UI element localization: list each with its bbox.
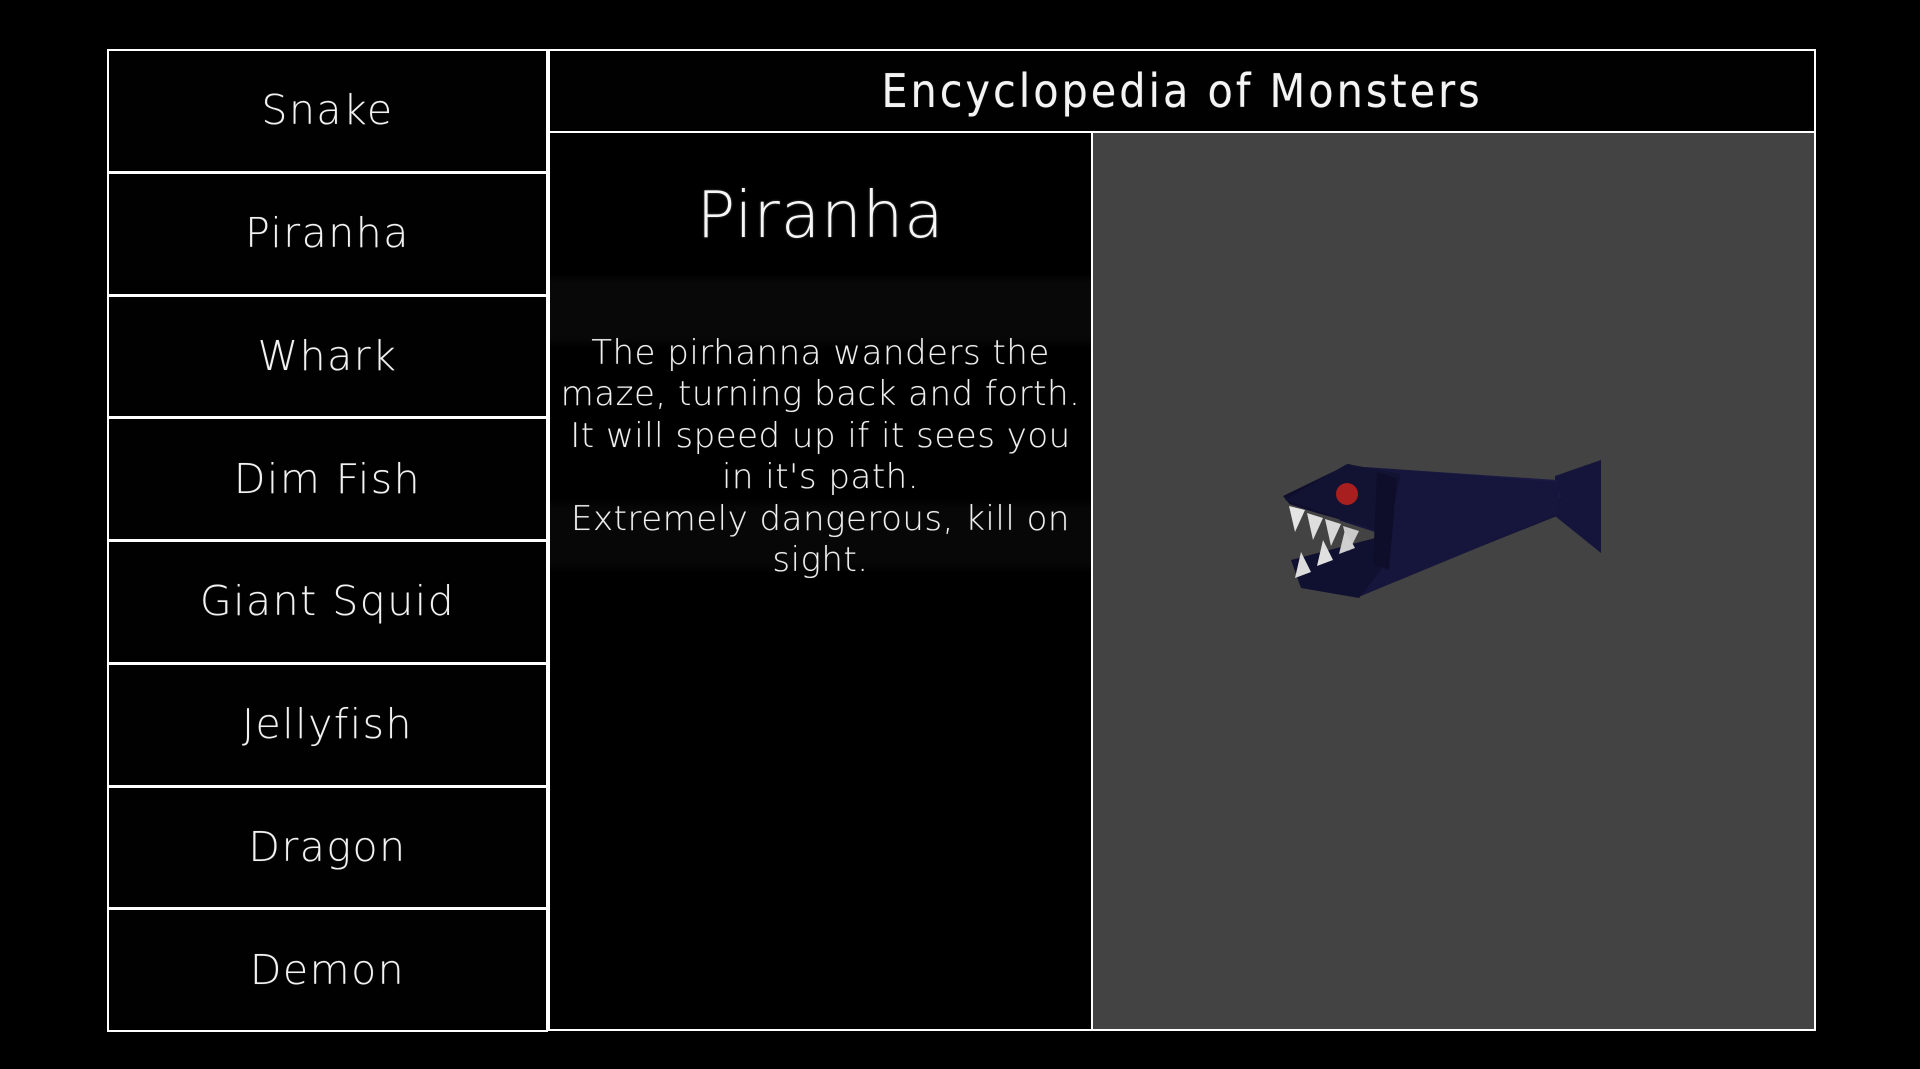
- piranha-eye: [1336, 483, 1358, 505]
- monster-preview-panel: [1091, 131, 1816, 1031]
- encyclopedia-window: Snake Piranha Whark Dim Fish Giant Squid…: [107, 49, 1816, 1031]
- sidebar-item-giant-squid[interactable]: Giant Squid: [107, 540, 548, 664]
- sidebar-item-snake[interactable]: Snake: [107, 49, 548, 173]
- page-title: Encyclopedia of Monsters: [881, 64, 1482, 118]
- sidebar-item-label: Jellyfish: [242, 704, 413, 745]
- sidebar-item-label: Dragon: [248, 827, 406, 868]
- monster-list-sidebar: Snake Piranha Whark Dim Fish Giant Squid…: [107, 49, 548, 1031]
- sidebar-item-label: Giant Squid: [200, 581, 455, 622]
- sidebar-item-label: Piranha: [245, 213, 410, 254]
- sidebar-item-whark[interactable]: Whark: [107, 295, 548, 419]
- game-screen: Snake Piranha Whark Dim Fish Giant Squid…: [0, 0, 1920, 1069]
- sidebar-item-demon[interactable]: Demon: [107, 908, 548, 1032]
- monster-description-panel: Piranha The pirhanna wanders the maze, t…: [548, 131, 1093, 1031]
- sidebar-item-label: Dim Fish: [234, 459, 421, 500]
- sidebar-item-dragon[interactable]: Dragon: [107, 786, 548, 910]
- sidebar-item-dim-fish[interactable]: Dim Fish: [107, 417, 548, 541]
- monster-description-text: The pirhanna wanders the maze, turning b…: [556, 333, 1085, 582]
- piranha-illustration: [1261, 438, 1601, 618]
- piranha-tail: [1555, 460, 1601, 553]
- monster-name-heading: Piranha: [550, 179, 1091, 253]
- sidebar-item-jellyfish[interactable]: Jellyfish: [107, 663, 548, 787]
- encyclopedia-header: Encyclopedia of Monsters: [548, 49, 1816, 133]
- sidebar-item-label: Snake: [261, 90, 393, 131]
- encyclopedia-content: Encyclopedia of Monsters Piranha The pir…: [548, 49, 1816, 1031]
- sidebar-item-label: Whark: [258, 336, 398, 377]
- sidebar-item-label: Demon: [250, 950, 405, 991]
- sidebar-item-piranha[interactable]: Piranha: [107, 172, 548, 296]
- detail-row: Piranha The pirhanna wanders the maze, t…: [548, 131, 1816, 1031]
